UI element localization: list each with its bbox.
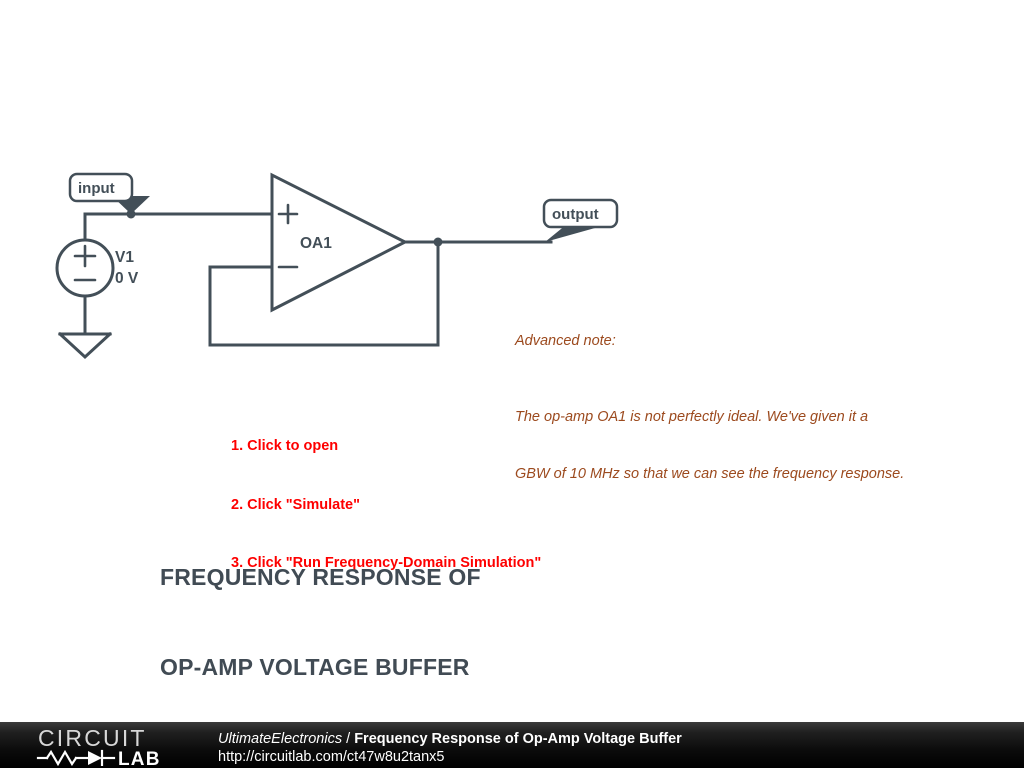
junction-dot-input [127, 210, 136, 219]
advanced-note: Advanced note: The op-amp OA1 is not per… [515, 294, 995, 522]
input-callout-pointer [112, 196, 150, 214]
output-node-label-box[interactable] [544, 200, 617, 227]
voltage-source-symbol[interactable] [57, 240, 113, 296]
input-node-label-box[interactable] [70, 174, 132, 201]
page-title: FREQUENCY RESPONSE OF OP-AMP VOLTAGE BUF… [160, 502, 481, 742]
slide-canvas: OA1 V1 0 V input output Advanced note: T… [0, 0, 1024, 768]
source-name-label: V1 [115, 249, 134, 266]
logo-wordmark-lab: LAB [118, 749, 161, 766]
ground-triangle [60, 334, 110, 357]
output-callout-pointer [545, 220, 595, 242]
logo-resistor-zigzag [47, 752, 76, 764]
logo-wordmark-circuit: CIRCUIT [38, 726, 147, 751]
advanced-note-line-1: The op-amp OA1 is not perfectly ideal. W… [515, 408, 995, 427]
opamp-body [272, 175, 405, 310]
breadcrumb-site[interactable]: UltimateElectronics [218, 731, 342, 747]
page-title-line-2: OP-AMP VOLTAGE BUFFER [160, 652, 481, 682]
advanced-note-line-2: GBW of 10 MHz so that we can see the fre… [515, 465, 995, 484]
footer-url[interactable]: http://circuitlab.com/ct47w8u2tanx5 [218, 748, 444, 767]
wire-feedback [210, 242, 438, 345]
source-value-label: 0 V [115, 270, 139, 287]
junction-dot-output [434, 238, 443, 247]
logo-circuit-symbol [38, 751, 114, 765]
breadcrumb-separator: / [342, 731, 354, 747]
circuitlab-logo[interactable]: CIRCUIT LAB [36, 726, 196, 766]
input-node-label: input [78, 180, 115, 197]
output-node-label: output [552, 206, 599, 223]
footer-bar: CIRCUIT LAB UltimateElectronics / Freque… [0, 722, 1024, 768]
footer-breadcrumb: UltimateElectronics / Frequency Response… [218, 729, 682, 749]
logo-diode-triangle [88, 751, 102, 765]
page-title-line-1: FREQUENCY RESPONSE OF [160, 562, 481, 592]
advanced-note-heading: Advanced note: [515, 332, 995, 351]
instruction-step-1: 1. Click to open [231, 437, 541, 457]
opamp-name-label: OA1 [300, 235, 332, 252]
breadcrumb-title: Frequency Response of Op-Amp Voltage Buf… [354, 731, 682, 747]
